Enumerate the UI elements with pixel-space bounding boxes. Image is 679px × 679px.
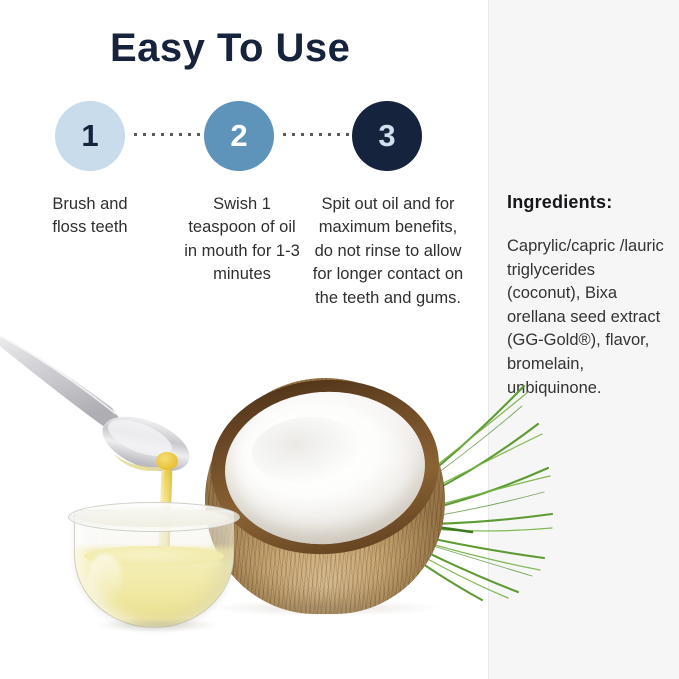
connector-dot [310, 133, 313, 136]
page-title: Easy To Use [110, 26, 350, 71]
bowl-shadow [94, 618, 220, 632]
connector-dot [188, 133, 191, 136]
connector-dot [179, 133, 182, 136]
step-number-3: 3 [378, 118, 395, 154]
connector-dot [328, 133, 331, 136]
step-number-2: 2 [230, 118, 247, 154]
glass-bowl-of-oil [68, 496, 240, 628]
connector-dot [134, 133, 137, 136]
ingredients-heading: Ingredients: [507, 192, 667, 213]
step-circle-3[interactable]: 3 [352, 101, 422, 171]
steps-indicator-row: 1 2 [0, 101, 488, 173]
step-caption-3: Spit out oil and for maximum benefits, d… [312, 193, 464, 310]
step-caption-2: Swish 1 teaspoon of oil in mouth for 1-3… [180, 193, 304, 287]
scene-ground-shadow [210, 600, 440, 616]
connector-dot [301, 133, 304, 136]
connector-dot [152, 133, 155, 136]
connector-dot [292, 133, 295, 136]
step-connector-1-2 [134, 133, 200, 136]
spoon-handle [0, 328, 122, 428]
connector-dot [197, 133, 200, 136]
connector-dot [319, 133, 322, 136]
connector-dot [346, 133, 349, 136]
step-caption-1: Brush and floss teeth [38, 193, 142, 240]
connector-dot [170, 133, 173, 136]
connector-dot [283, 133, 286, 136]
step-circle-2[interactable]: 2 [204, 101, 274, 171]
step-number-1: 1 [81, 118, 98, 154]
connector-dot [161, 133, 164, 136]
bowl-highlight [88, 554, 122, 604]
connector-dot [337, 133, 340, 136]
product-photo-scene [0, 300, 560, 679]
bowl-rim [68, 502, 240, 532]
step-circle-1[interactable]: 1 [55, 101, 125, 171]
connector-dot [143, 133, 146, 136]
infographic-canvas: Easy To Use 1 2 [0, 0, 679, 679]
step-connector-2-3 [283, 133, 349, 136]
coconut-half [205, 378, 445, 614]
oil-drop [156, 452, 178, 470]
